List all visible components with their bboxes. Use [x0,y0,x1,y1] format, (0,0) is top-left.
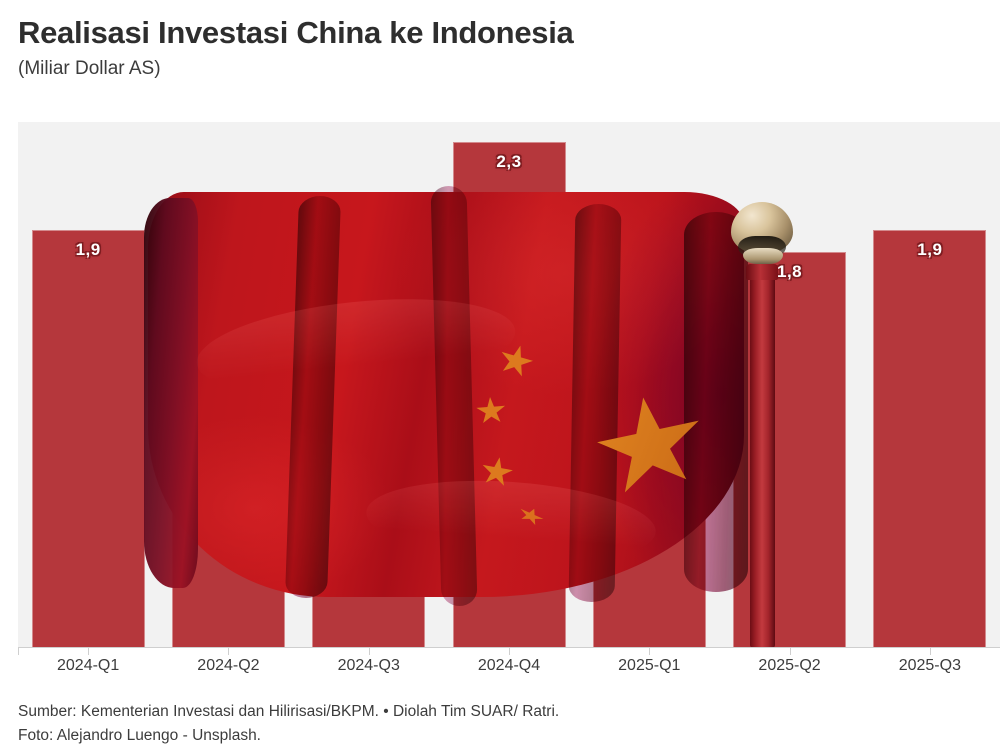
x-axis-tick [18,648,19,655]
x-axis-label-2024-Q1: 2024-Q1 [57,657,119,675]
bar-value-label: 2,3 [454,152,565,172]
bar-value-label: 1,8 [734,262,845,282]
bar-2024-Q4[interactable]: 2,3 [453,142,566,647]
x-axis-tick [649,648,650,655]
chart-plot-area: 1,921,82,31,81,81,9 [18,122,1000,647]
x-axis-tick [790,648,791,655]
bar-value-label: 2 [173,218,284,238]
x-axis-label-2025-Q1: 2025-Q1 [618,657,680,675]
footer: Sumber: Kementerian Investasi dan Hiliri… [18,700,978,747]
bar-2025-Q1[interactable]: 1,8 [593,252,706,647]
bars-layer: 1,921,82,31,81,81,9 [18,122,1000,647]
bar-value-label: 1,8 [313,262,424,282]
bar-2025-Q3[interactable]: 1,9 [873,230,986,647]
x-axis-tick [509,648,510,655]
bar-2024-Q1[interactable]: 1,9 [32,230,145,647]
x-axis-label-2025-Q3: 2025-Q3 [899,657,961,675]
x-axis-tick [369,648,370,655]
x-axis-label-2024-Q3: 2024-Q3 [338,657,400,675]
bar-value-label: 1,9 [33,240,144,260]
source-note: Sumber: Kementerian Investasi dan Hiliri… [18,700,978,724]
x-axis-label-2025-Q2: 2025-Q2 [758,657,820,675]
bar-value-label: 1,8 [594,262,705,282]
x-axis-tick [930,648,931,655]
bar-2024-Q2[interactable]: 2 [172,208,285,647]
x-axis-label-2024-Q4: 2024-Q4 [478,657,540,675]
x-axis-tick [88,648,89,655]
bar-2025-Q2[interactable]: 1,8 [733,252,846,647]
photo-credit-note: Foto: Alejandro Luengo - Unsplash. [18,724,978,748]
page-title: Realisasi Investasi China ke Indonesia [18,16,982,50]
bar-2024-Q3[interactable]: 1,8 [312,252,425,647]
x-axis-label-2024-Q2: 2024-Q2 [197,657,259,675]
header: Realisasi Investasi China ke Indonesia (… [0,0,1000,80]
bar-value-label: 1,9 [874,240,985,260]
page-subtitle: (Miliar Dollar AS) [18,59,982,80]
x-axis-tick [228,648,229,655]
